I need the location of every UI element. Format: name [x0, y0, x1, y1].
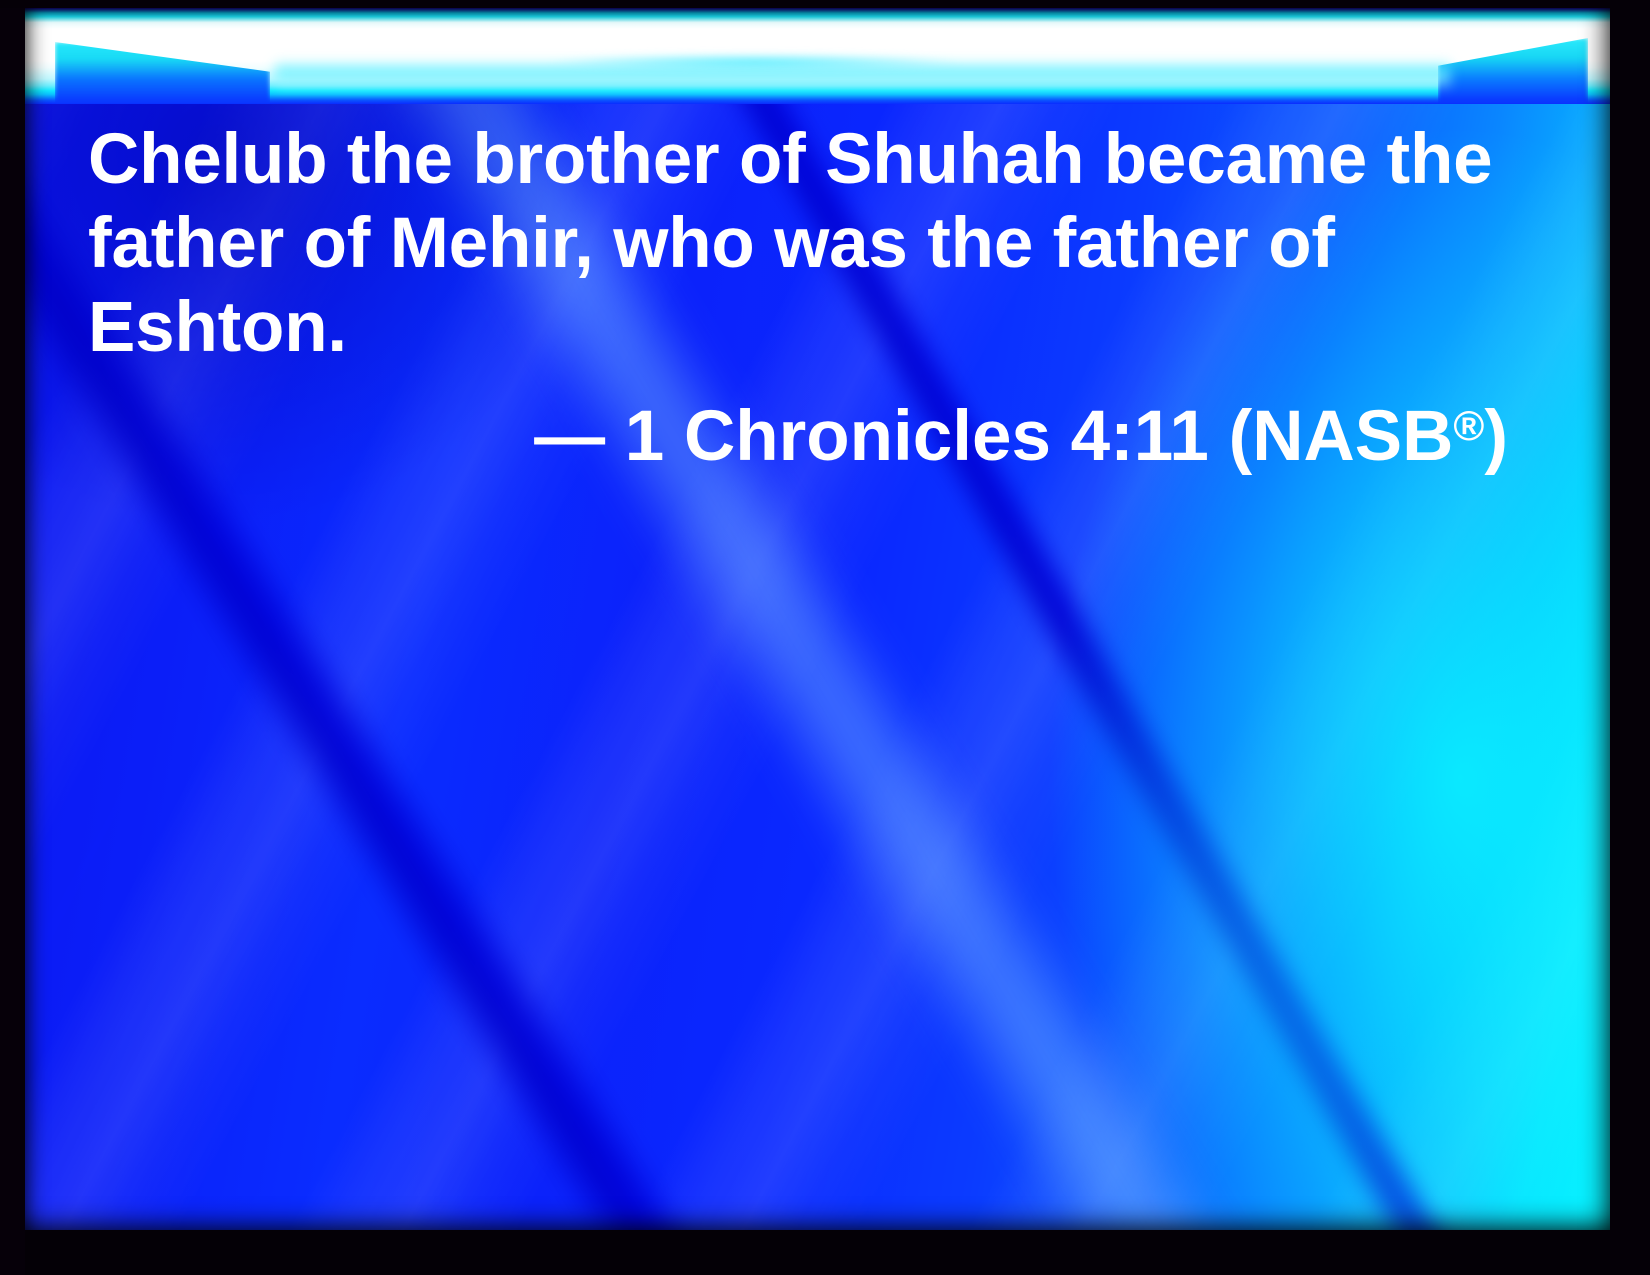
top-light-bar-cyan-blob	[545, 54, 965, 70]
registered-trademark-icon: ®	[1453, 402, 1484, 449]
verse-body-text: Chelub the brother of Shuhah became the …	[88, 118, 1508, 370]
verse-reference-suffix: )	[1484, 397, 1508, 476]
verse-reference-prefix: — 1 Chronicles 4:11 (NASB	[534, 397, 1453, 476]
top-light-bar	[25, 8, 1610, 104]
scripture-slide: Chelub the brother of Shuhah became the …	[0, 0, 1650, 1275]
verse-reference: — 1 Chronicles 4:11 (NASB®)	[88, 384, 1508, 479]
verse-text-block: Chelub the brother of Shuhah became the …	[88, 118, 1508, 479]
